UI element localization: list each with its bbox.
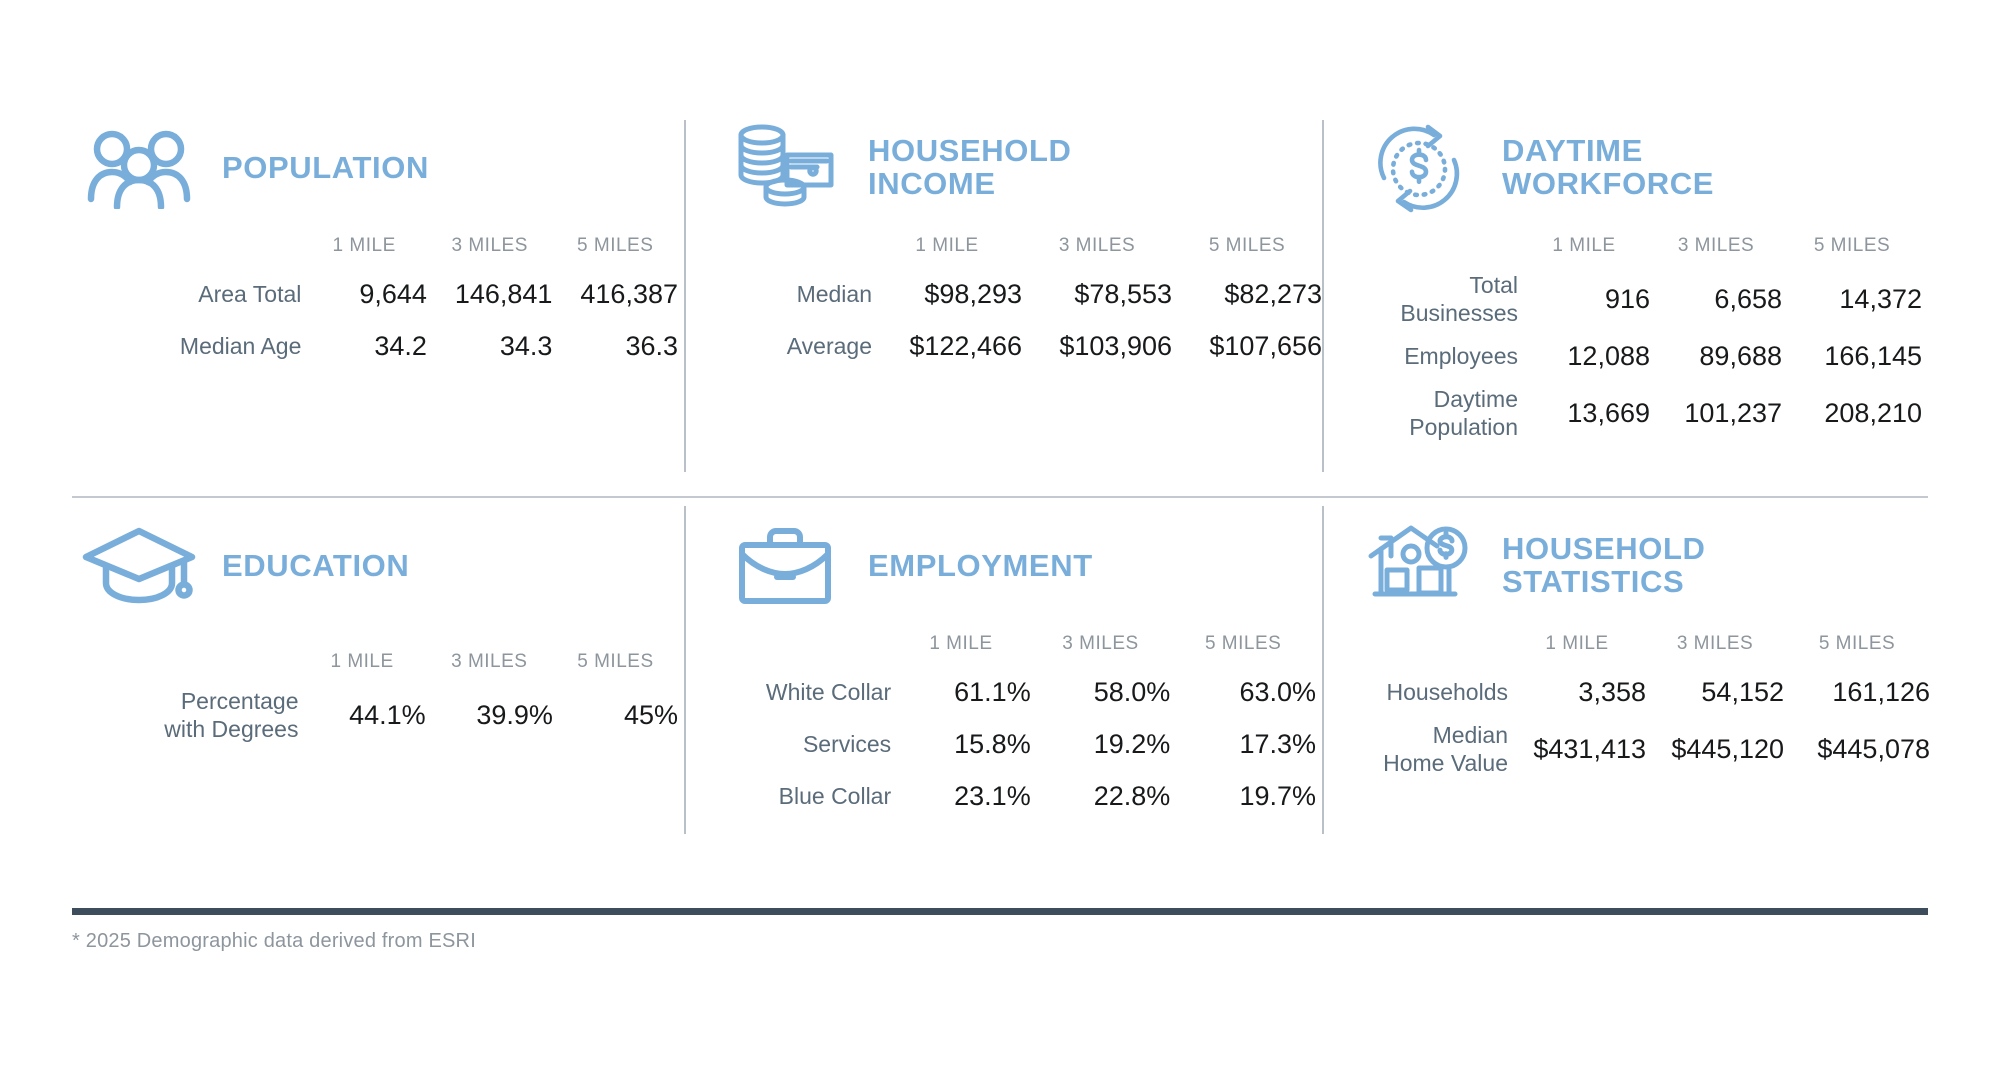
panel-household-income: HOUSEHOLDINCOME 1 MILE 3 MILES 5 MILES M… bbox=[684, 112, 1322, 482]
row-label: Median Home Value bbox=[1328, 718, 1508, 780]
cell-value: $445,078 bbox=[1784, 718, 1930, 780]
cell-value: $78,553 bbox=[1022, 268, 1172, 320]
table-header-row: 1 MILE 3 MILES 5 MILES bbox=[78, 640, 678, 684]
cell-value: $431,413 bbox=[1508, 718, 1646, 780]
cell-value: 19.7% bbox=[1170, 770, 1316, 822]
cell-value: 58.0% bbox=[1031, 666, 1171, 718]
table-header-row: 1 MILE 3 MILES 5 MILES bbox=[78, 224, 678, 268]
cell-value: 61.1% bbox=[891, 666, 1031, 718]
table-household-income: 1 MILE 3 MILES 5 MILES Median $98,293 $7… bbox=[690, 224, 1322, 372]
row-label: Area Total bbox=[78, 268, 301, 320]
table-row: Employees 12,088 89,688 166,145 bbox=[1328, 330, 1922, 382]
cell-value: 146,841 bbox=[427, 268, 553, 320]
column-header-5-miles: 5 MILES bbox=[1172, 224, 1322, 268]
demographics-infographic: POPULATION 1 MILE 3 MILES 5 MILES Area T… bbox=[0, 0, 2000, 1080]
column-header-1-mile: 1 MILE bbox=[891, 622, 1031, 666]
table-education: 1 MILE 3 MILES 5 MILES Percentage with D… bbox=[78, 640, 678, 746]
table-row: Average $122,466 $103,906 $107,656 bbox=[690, 320, 1322, 372]
graduation-cap-icon bbox=[78, 518, 200, 614]
dollar-cycle-icon bbox=[1358, 120, 1480, 216]
table-row: Median Age 34.2 34.3 36.3 bbox=[78, 320, 678, 372]
column-header-3-miles: 3 MILES bbox=[427, 224, 553, 268]
column-header-5-miles: 5 MILES bbox=[553, 640, 678, 684]
panel-household-statistics: HOUSEHOLDSTATISTICS 1 MILE 3 MILES 5 MIL… bbox=[1322, 482, 1928, 852]
cell-value: 36.3 bbox=[552, 320, 678, 372]
table-household-statistics: 1 MILE 3 MILES 5 MILES Households 3,358 … bbox=[1328, 622, 1930, 780]
table-row: White Collar 61.1% 58.0% 63.0% bbox=[690, 666, 1316, 718]
cell-value: 208,210 bbox=[1782, 382, 1922, 444]
stats-grid: POPULATION 1 MILE 3 MILES 5 MILES Area T… bbox=[72, 112, 1928, 852]
table-header-row: 1 MILE 3 MILES 5 MILES bbox=[1328, 622, 1930, 666]
table-employment: 1 MILE 3 MILES 5 MILES White Collar 61.1… bbox=[690, 622, 1316, 822]
section-header-household-statistics: HOUSEHOLDSTATISTICS bbox=[1328, 510, 1922, 622]
panel-population: POPULATION 1 MILE 3 MILES 5 MILES Area T… bbox=[72, 112, 684, 482]
panel-daytime-workforce: DAYTIMEWORKFORCE 1 MILE 3 MILES 5 MILES … bbox=[1322, 112, 1928, 482]
cell-value: 15.8% bbox=[891, 718, 1031, 770]
house-dollar-icon bbox=[1358, 518, 1480, 614]
cell-value: 39.9% bbox=[426, 684, 553, 746]
cell-value: 13,669 bbox=[1518, 382, 1650, 444]
cell-value: 17.3% bbox=[1170, 718, 1316, 770]
table-row: Services 15.8% 19.2% 17.3% bbox=[690, 718, 1316, 770]
table-row: Households 3,358 54,152 161,126 bbox=[1328, 666, 1930, 718]
row-label: Average bbox=[690, 320, 872, 372]
cell-value: $82,273 bbox=[1172, 268, 1322, 320]
column-header-3-miles: 3 MILES bbox=[1650, 224, 1782, 268]
table-header-row: 1 MILE 3 MILES 5 MILES bbox=[1328, 224, 1922, 268]
briefcase-icon bbox=[724, 518, 846, 614]
cell-value: 19.2% bbox=[1031, 718, 1171, 770]
cell-value: 161,126 bbox=[1784, 666, 1930, 718]
cell-value: 34.2 bbox=[301, 320, 427, 372]
cell-value: $103,906 bbox=[1022, 320, 1172, 372]
table-row: Total Businesses 916 6,658 14,372 bbox=[1328, 268, 1922, 330]
cell-value: 44.1% bbox=[298, 684, 425, 746]
cell-value: 63.0% bbox=[1170, 666, 1316, 718]
column-header-1-mile: 1 MILE bbox=[298, 640, 425, 684]
spacer-cell bbox=[1328, 622, 1508, 666]
cell-value: 9,644 bbox=[301, 268, 427, 320]
cell-value: 54,152 bbox=[1646, 666, 1784, 718]
section-title-household-income: HOUSEHOLDINCOME bbox=[868, 135, 1071, 200]
cell-value: 101,237 bbox=[1650, 382, 1782, 444]
footer-rule bbox=[72, 908, 1928, 915]
cell-value: 45% bbox=[553, 684, 678, 746]
cell-value: 23.1% bbox=[891, 770, 1031, 822]
column-header-1-mile: 1 MILE bbox=[872, 224, 1022, 268]
table-header-row: 1 MILE 3 MILES 5 MILES bbox=[690, 622, 1316, 666]
table-population: 1 MILE 3 MILES 5 MILES Area Total 9,644 … bbox=[78, 224, 678, 372]
table-row: Area Total 9,644 146,841 416,387 bbox=[78, 268, 678, 320]
column-header-5-miles: 5 MILES bbox=[552, 224, 678, 268]
section-header-household-income: HOUSEHOLDINCOME bbox=[690, 112, 1316, 224]
row-label: White Collar bbox=[690, 666, 891, 718]
coins-cash-icon bbox=[724, 120, 846, 216]
cell-value: 14,372 bbox=[1782, 268, 1922, 330]
column-header-3-miles: 3 MILES bbox=[1646, 622, 1784, 666]
cell-value: 416,387 bbox=[552, 268, 678, 320]
row-label: Daytime Population bbox=[1328, 382, 1518, 444]
spacer-cell bbox=[1328, 224, 1518, 268]
row-label: Employees bbox=[1328, 330, 1518, 382]
section-title-education: EDUCATION bbox=[222, 550, 409, 583]
table-daytime-workforce: 1 MILE 3 MILES 5 MILES Total Businesses … bbox=[1328, 224, 1922, 444]
section-header-daytime-workforce: DAYTIMEWORKFORCE bbox=[1328, 112, 1922, 224]
cell-value: 22.8% bbox=[1031, 770, 1171, 822]
row-label: Median Age bbox=[78, 320, 301, 372]
row-label: Services bbox=[690, 718, 891, 770]
section-title-population: POPULATION bbox=[222, 152, 429, 185]
cell-value: 89,688 bbox=[1650, 330, 1782, 382]
column-header-3-miles: 3 MILES bbox=[426, 640, 553, 684]
row-divider bbox=[72, 496, 1928, 498]
table-row: Median $98,293 $78,553 $82,273 bbox=[690, 268, 1322, 320]
spacer-cell bbox=[78, 224, 301, 268]
row-label: Blue Collar bbox=[690, 770, 891, 822]
cell-value: 3,358 bbox=[1508, 666, 1646, 718]
section-header-population: POPULATION bbox=[78, 112, 678, 224]
people-group-icon bbox=[78, 120, 200, 216]
footnote-text: * 2025 Demographic data derived from ESR… bbox=[72, 930, 476, 953]
column-header-1-mile: 1 MILE bbox=[301, 224, 427, 268]
row-label: Percentage with Degrees bbox=[78, 684, 298, 746]
cell-value: $122,466 bbox=[872, 320, 1022, 372]
column-header-5-miles: 5 MILES bbox=[1782, 224, 1922, 268]
panel-employment: EMPLOYMENT 1 MILE 3 MILES 5 MILES White … bbox=[684, 482, 1322, 852]
section-title-household-statistics: HOUSEHOLDSTATISTICS bbox=[1502, 533, 1705, 598]
section-title-daytime-workforce: DAYTIMEWORKFORCE bbox=[1502, 135, 1714, 200]
spacer-cell bbox=[690, 622, 891, 666]
cell-value: $445,120 bbox=[1646, 718, 1784, 780]
section-title-employment: EMPLOYMENT bbox=[868, 550, 1093, 583]
column-header-3-miles: 3 MILES bbox=[1031, 622, 1171, 666]
row-label: Median bbox=[690, 268, 872, 320]
table-row: Percentage with Degrees 44.1% 39.9% 45% bbox=[78, 684, 678, 746]
column-header-5-miles: 5 MILES bbox=[1170, 622, 1316, 666]
row-label: Total Businesses bbox=[1328, 268, 1518, 330]
column-header-5-miles: 5 MILES bbox=[1784, 622, 1930, 666]
table-row: Blue Collar 23.1% 22.8% 19.7% bbox=[690, 770, 1316, 822]
spacer-cell bbox=[78, 640, 298, 684]
column-header-1-mile: 1 MILE bbox=[1508, 622, 1646, 666]
table-row: Median Home Value $431,413 $445,120 $445… bbox=[1328, 718, 1930, 780]
cell-value: 166,145 bbox=[1782, 330, 1922, 382]
cell-value: $98,293 bbox=[872, 268, 1022, 320]
panel-education: EDUCATION 1 MILE 3 MILES 5 MILES Percent… bbox=[72, 482, 684, 852]
cell-value: 12,088 bbox=[1518, 330, 1650, 382]
table-header-row: 1 MILE 3 MILES 5 MILES bbox=[690, 224, 1322, 268]
column-header-3-miles: 3 MILES bbox=[1022, 224, 1172, 268]
row-label: Households bbox=[1328, 666, 1508, 718]
section-header-education: EDUCATION bbox=[78, 510, 678, 622]
table-row: Daytime Population 13,669 101,237 208,21… bbox=[1328, 382, 1922, 444]
section-header-employment: EMPLOYMENT bbox=[690, 510, 1316, 622]
cell-value: 6,658 bbox=[1650, 268, 1782, 330]
cell-value: $107,656 bbox=[1172, 320, 1322, 372]
cell-value: 916 bbox=[1518, 268, 1650, 330]
column-header-1-mile: 1 MILE bbox=[1518, 224, 1650, 268]
spacer-cell bbox=[690, 224, 872, 268]
cell-value: 34.3 bbox=[427, 320, 553, 372]
